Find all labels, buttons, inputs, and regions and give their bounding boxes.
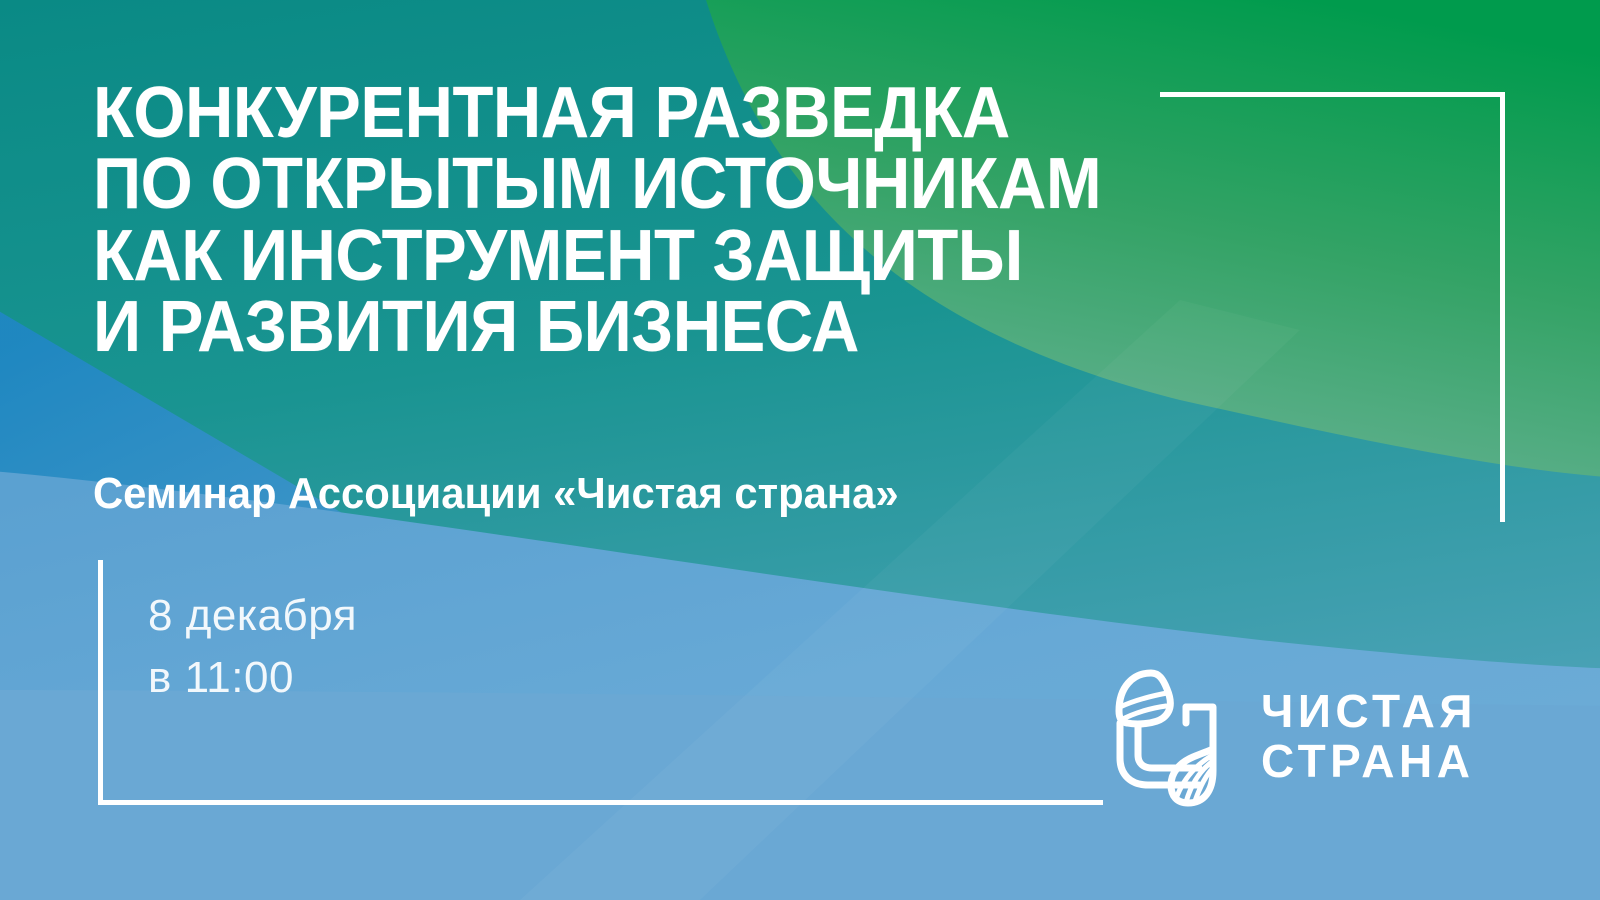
headline-line-3: КАК ИНСТРУМЕНТ ЗАЩИТЫ [93, 221, 1265, 292]
event-datetime: 8 декабря в 11:00 [148, 585, 357, 710]
event-time: в 11:00 [148, 647, 357, 709]
poster-headline: КОНКУРЕНТНАЯ РАЗВЕДКА ПО ОТКРЫТЫМ ИСТОЧН… [93, 78, 1353, 363]
headline-line-4: И РАЗВИТИЯ БИЗНЕСА [93, 292, 1265, 363]
brand-logo: ЧИСТАЯ СТРАНА [1093, 663, 1477, 811]
poster-subtitle: Семинар Ассоциации «Чистая страна» [93, 472, 899, 516]
chistaya-strana-monogram-icon [1093, 663, 1243, 811]
event-poster: КОНКУРЕНТНАЯ РАЗВЕДКА ПО ОТКРЫТЫМ ИСТОЧН… [0, 0, 1600, 900]
brand-wordmark: ЧИСТАЯ СТРАНА [1261, 687, 1477, 786]
brand-wordmark-line-1: ЧИСТАЯ [1261, 687, 1477, 737]
event-date: 8 декабря [148, 585, 357, 647]
brand-wordmark-line-2: СТРАНА [1261, 737, 1477, 787]
headline-line-1: КОНКУРЕНТНАЯ РАЗВЕДКА [93, 78, 1265, 149]
headline-line-2: ПО ОТКРЫТЫМ ИСТОЧНИКАМ [93, 149, 1265, 220]
